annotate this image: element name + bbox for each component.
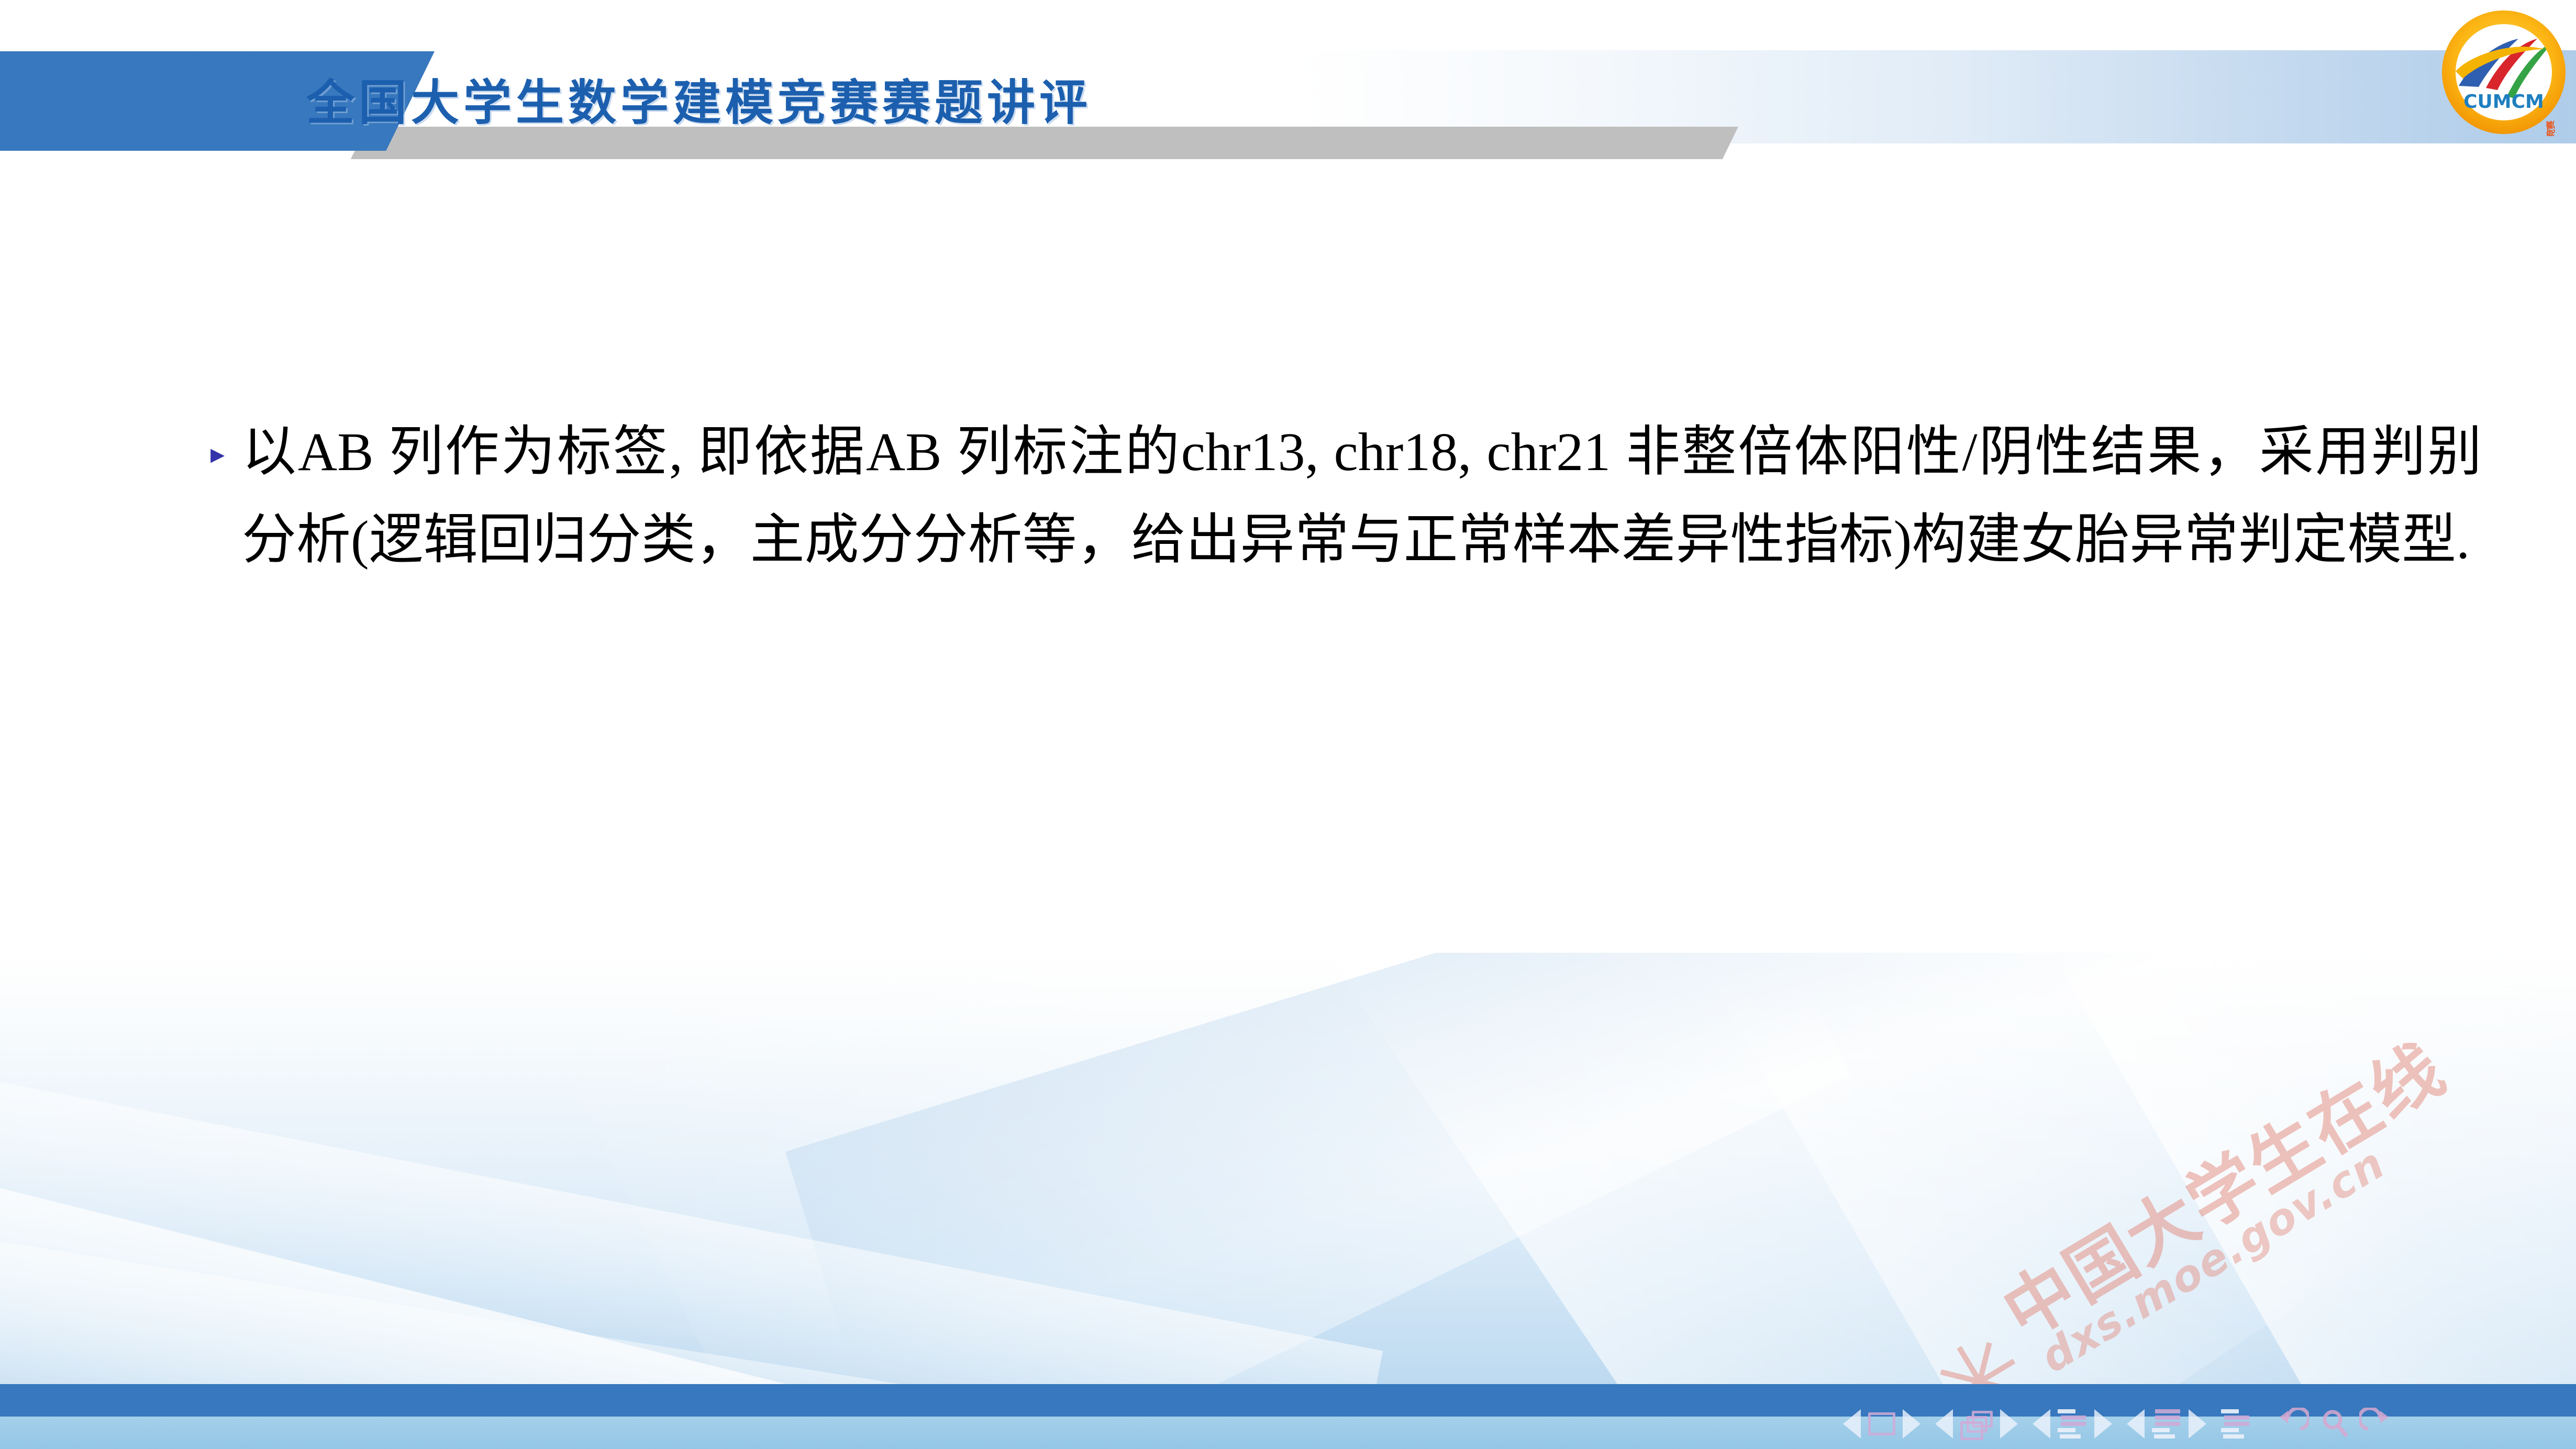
undo-icon[interactable] <box>2274 1408 2309 1440</box>
nav-group-slide <box>1843 1409 1920 1439</box>
slide-canvas: 全国大学生数学建模竞赛赛题讲评 <box>0 0 2576 1449</box>
bullet-paragraph: 以AB 列作为标签, 即依据AB 列标注的chr13, chr18, chr21… <box>242 408 2482 585</box>
presentation-nav-bar[interactable] <box>1843 1399 2571 1449</box>
nav-group-list <box>2221 1409 2250 1439</box>
page-title: 全国大学生数学建模竞赛赛题讲评 <box>306 54 1301 142</box>
list-icon[interactable] <box>2221 1409 2250 1439</box>
next-slide-arrow-icon[interactable] <box>1903 1409 1920 1439</box>
slide-header: 全国大学生数学建模竞赛赛题讲评 <box>0 0 2576 173</box>
next-notes-arrow-icon[interactable] <box>2189 1409 2206 1439</box>
slide-stack-icon[interactable] <box>1960 1411 1993 1437</box>
cumcm-logo: CUMCM 中国大学生数学建模竞赛 <box>2440 8 2568 136</box>
bullet-triangle-icon: ▸ <box>210 440 242 468</box>
notes-icon[interactable] <box>2152 1409 2181 1439</box>
nav-group-slide-stack <box>1935 1409 2018 1439</box>
slide-icon[interactable] <box>1868 1412 1895 1435</box>
nav-group-notes <box>2127 1409 2206 1439</box>
prev-outline-arrow-icon[interactable] <box>2033 1409 2050 1439</box>
next-stack-arrow-icon[interactable] <box>2000 1409 2018 1439</box>
redo-icon[interactable] <box>2359 1408 2394 1440</box>
prev-notes-arrow-icon[interactable] <box>2127 1409 2145 1439</box>
bottom-decoration <box>0 953 2576 1449</box>
outline-icon[interactable] <box>2058 1409 2087 1439</box>
next-outline-arrow-icon[interactable] <box>2094 1409 2112 1439</box>
slide-body: ▸ 以AB 列作为标签, 即依据AB 列标注的chr13, chr18, chr… <box>0 408 2576 585</box>
prev-stack-arrow-icon[interactable] <box>1935 1409 1953 1439</box>
search-icon[interactable] <box>2318 1408 2350 1440</box>
nav-tools <box>2274 1408 2394 1440</box>
logo-text: CUMCM <box>2463 91 2544 113</box>
nav-group-outline <box>2033 1409 2112 1439</box>
prev-slide-arrow-icon[interactable] <box>1843 1409 1861 1439</box>
bullet-item: ▸ 以AB 列作为标签, 即依据AB 列标注的chr13, chr18, chr… <box>0 408 2576 585</box>
